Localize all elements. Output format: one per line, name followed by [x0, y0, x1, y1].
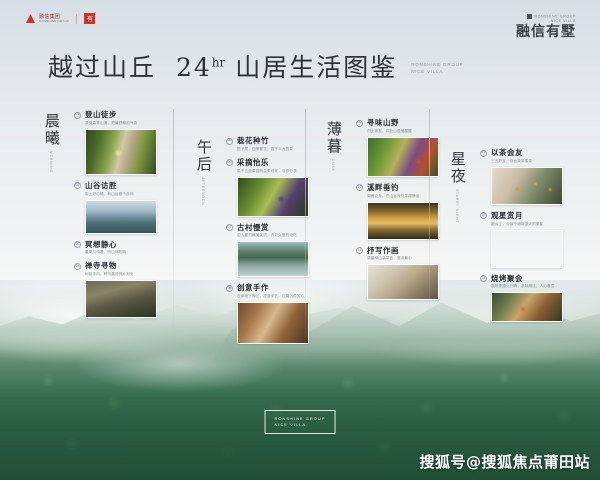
item-desc: 沿入廊村格美溪流，去见久慢的记忆: [237, 233, 297, 238]
item-desc: 庭院里围火升腾，滋味烟沈，人心暖意: [491, 284, 555, 289]
item-name: 寻味山野: [367, 118, 412, 127]
item-index-badge: 04: [74, 263, 81, 270]
section-label-morning: 晨曦 MORNING: [38, 113, 64, 173]
item-thumbnail[interactable]: [85, 200, 157, 234]
list-item[interactable]: 11 抒写作画 清晨柳山溪草色，落点最心: [356, 246, 450, 301]
item-desc: 湖面泛舟，在山谷深处寻得静谧: [367, 194, 419, 199]
item-index-badge: 05: [226, 138, 233, 145]
list-item[interactable]: 12 以茶会友 三五好友，饮台茶茶煮茶: [480, 148, 574, 205]
item-name: 山谷访胜: [85, 181, 134, 190]
section-title-afternoon: 午后: [194, 139, 212, 173]
item-thumbnail[interactable]: [491, 292, 563, 322]
item-desc: 带上好心情，和山谷做个游伴: [85, 192, 134, 197]
item-desc: 清爽森林山道，把最舒朗的气息: [85, 121, 137, 126]
column-divider: [305, 109, 306, 364]
logo-top-right: RONSHINE GROUP NICE VILLA 融信有墅: [516, 14, 576, 40]
section-en-afternoon: AFTERNOON: [201, 177, 205, 206]
page-subtitle-line-1: RONSHINE GROUP: [411, 62, 463, 69]
title-part-2: 山居生活图鉴: [235, 53, 397, 82]
item-index-badge: 07: [226, 224, 233, 231]
logo-bottom-line-2: NICE VILLA: [275, 422, 326, 428]
item-name: 烧烤聚会: [491, 274, 555, 283]
ronshine-mark-icon: [26, 14, 35, 23]
item-desc: 清晨柳山溪草色，落点最心: [367, 256, 412, 261]
item-desc: 归土亲友，共赴山居慢醒醒: [367, 129, 412, 134]
list-item[interactable]: 04 禅寺寻物 树影寺内，聆听晨钟的片刻安: [74, 261, 168, 318]
list-item[interactable]: 03 冥想静心 晨曦引领着，听山林松响: [74, 240, 168, 256]
section-label-night: 星夜 STARRY NIGHT: [444, 151, 470, 223]
column-divider: [429, 109, 430, 329]
item-desc: 院子里，四季繁花，园子人大的菜: [237, 147, 293, 152]
column-divider: [173, 109, 174, 359]
item-desc: 晨曦引领着，听山林松响: [85, 250, 126, 255]
item-name: 观星赏月: [491, 211, 543, 220]
title-part-1: 越过山丘: [48, 53, 156, 82]
item-name: 冥想静心: [85, 240, 126, 249]
section-en-morning: MORNING: [49, 151, 53, 173]
page-title: 越过山丘 24hr 山居生活图鉴: [48, 55, 397, 80]
section-label-afternoon: 午后 AFTERNOON: [190, 139, 216, 206]
timeline-columns: 晨曦 MORNING 01 登山徒步 清爽森林山道，把最舒朗的气息: [30, 105, 586, 395]
item-index-badge: 08: [226, 285, 233, 292]
list-item[interactable]: 01 登山徒步 清爽森林山道，把最舒朗的气息: [74, 110, 168, 175]
list-item[interactable]: 09 寻味山野 归土亲友，共赴山居慢醒醒: [356, 118, 450, 177]
item-list-dusk: 09 寻味山野 归土亲友，共赴山居慢醒醒 10 溪畔垂钓 湖面泛舟，在山谷深处寻…: [356, 118, 450, 306]
page-subtitle-line-2: NICE VILLA: [411, 69, 463, 76]
page-subtitle: RONSHINE GROUP NICE VILLA: [411, 62, 463, 80]
section-title-night: 星夜: [448, 151, 466, 185]
item-index-badge: 11: [356, 247, 363, 254]
item-index-badge: 06: [226, 159, 233, 166]
section-title-dusk: 薄暮: [324, 121, 342, 155]
item-thumbnail[interactable]: [85, 280, 157, 318]
item-name: 禅寺寻物: [85, 261, 134, 270]
item-name: 创意手作: [237, 283, 304, 292]
item-index-badge: 02: [74, 182, 81, 189]
item-name: 登山徒步: [85, 110, 137, 119]
item-thumbnail[interactable]: [237, 302, 309, 344]
item-thumbnail[interactable]: [491, 230, 563, 268]
item-thumbnail[interactable]: [85, 129, 157, 175]
item-desc: 自家地下陶艺，捏造手艺，打磨沉稳的心: [237, 294, 304, 299]
list-item[interactable]: 02 山谷访胜 带上好心情，和山谷做个游伴: [74, 181, 168, 234]
logo-top-left-badge: 有: [84, 13, 95, 24]
item-thumbnail[interactable]: [237, 177, 309, 217]
section-label-dusk: 薄暮 DUSK: [320, 121, 346, 172]
item-list-night: 12 以茶会友 三五好友，饮台茶茶煮茶 13 观星赏月 廊台上，与孩子细数漫天的…: [480, 148, 574, 328]
section-title-morning: 晨曦: [42, 113, 60, 147]
item-index-badge: 14: [480, 275, 487, 282]
logo-top-left: 融信集团 RONSHINE GROUP 有: [26, 13, 95, 24]
sohu-watermark: 搜狐号@搜狐焦点莆田站: [419, 451, 590, 472]
item-index-badge: 12: [480, 150, 487, 157]
item-desc: 树影寺内，聆听晨钟的片刻安: [85, 272, 134, 277]
item-name: 溪畔垂钓: [367, 183, 419, 192]
poster-canvas: 融信集团 RONSHINE GROUP 有 RONSHINE GROUP NIC…: [0, 0, 600, 480]
item-desc: 三五好友，饮台茶茶煮茶: [491, 159, 532, 164]
item-index-badge: 01: [74, 112, 81, 119]
item-index-badge: 10: [356, 184, 363, 191]
title-superscript: hr: [212, 56, 225, 70]
logo-bottom: RONSHINE GROUP NICE VILLA: [265, 410, 336, 434]
logo-top-right-cn: 融信有墅: [516, 25, 576, 40]
item-desc: 属于五蓝果园的温柔时光，与你分享: [237, 169, 297, 174]
section-en-night: STARRY NIGHT: [455, 189, 459, 223]
logo-top-left-en: RONSHINE GROUP: [39, 20, 69, 23]
section-en-dusk: DUSK: [331, 159, 335, 172]
item-name: 抒写作画: [367, 246, 412, 255]
list-item[interactable]: 10 溪畔垂钓 湖面泛舟，在山谷深处寻得静谧: [356, 183, 450, 240]
item-desc: 廊台上，与孩子细数漫天的繁星: [491, 222, 543, 227]
item-name: 古村慢赏: [237, 223, 297, 232]
title-number: 24: [176, 53, 212, 82]
item-index-badge: 13: [480, 212, 487, 219]
list-item[interactable]: 14 烧烤聚会 庭院里围火升腾，滋味烟沈，人心暖意: [480, 274, 574, 323]
item-name: 以茶会友: [491, 148, 532, 157]
square-mark-icon: [527, 14, 532, 19]
item-name: 采摘怡乐: [237, 158, 297, 167]
item-index-badge: 09: [356, 120, 363, 127]
item-thumbnail[interactable]: [237, 241, 309, 277]
item-list-morning: 01 登山徒步 清爽森林山道，把最舒朗的气息 02 山谷访胜 带上好心情，和山谷…: [74, 110, 168, 324]
item-index-badge: 03: [74, 241, 81, 248]
list-item[interactable]: 13 观星赏月 廊台上，与孩子细数漫天的繁星: [480, 211, 574, 268]
page-title-block: 越过山丘 24hr 山居生活图鉴 RONSHINE GROUP NICE VIL…: [48, 55, 463, 80]
logo-divider: [76, 14, 77, 24]
item-thumbnail[interactable]: [491, 167, 563, 205]
item-name: 栽花种竹: [237, 136, 293, 145]
